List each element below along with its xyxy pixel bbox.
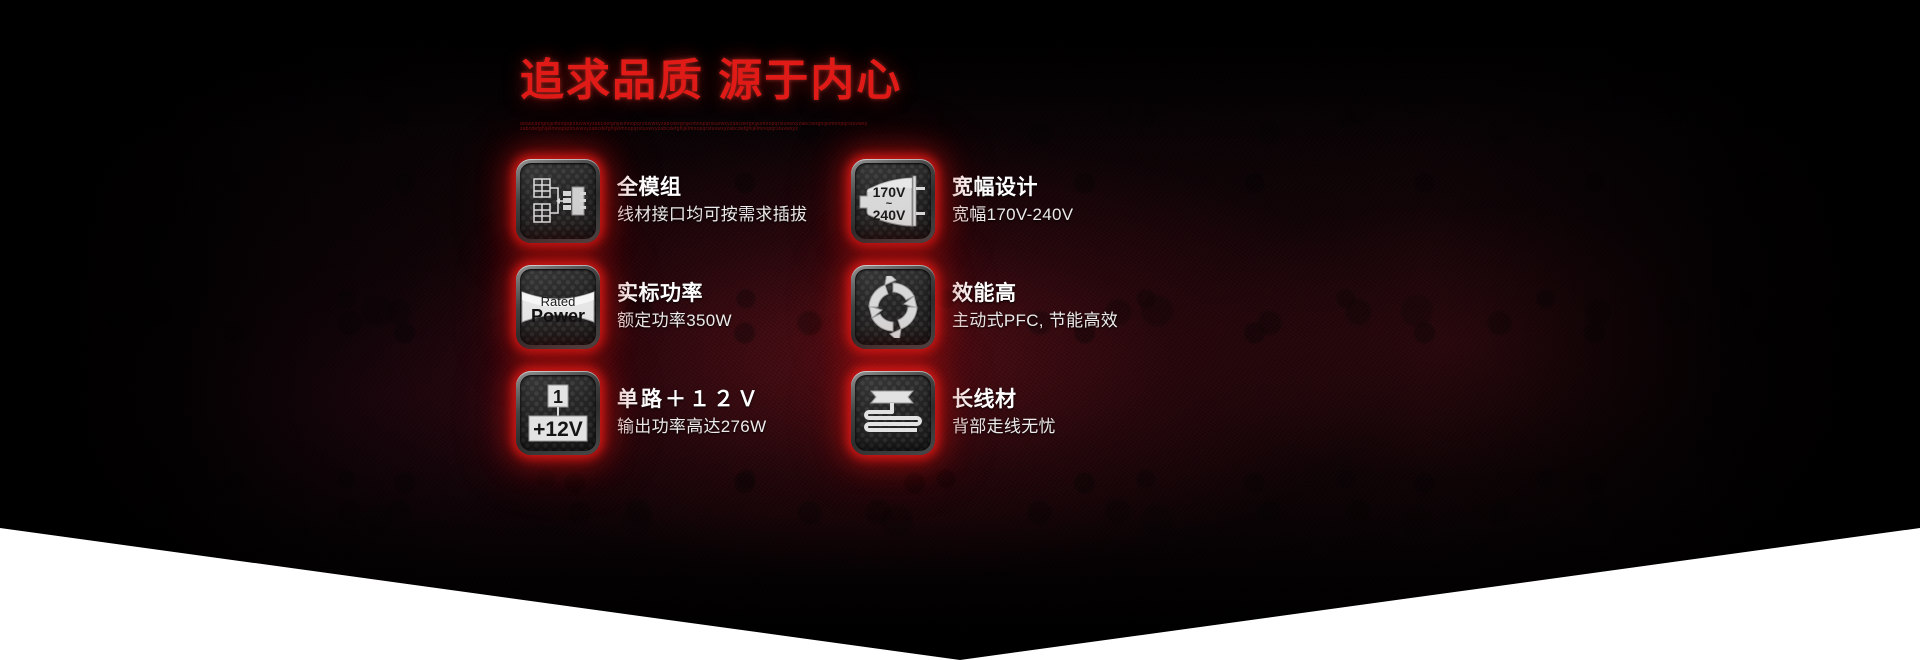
feature-desc: 线材接口均可按需求插拔 <box>617 203 807 228</box>
feature-text: 效能高 主动式PFC, 节能高效 <box>952 280 1118 334</box>
feature-title: 全模组 <box>617 174 807 201</box>
rated-power-icon: Rated Power <box>520 269 596 345</box>
feature-item-modular: 全模组 线材接口均可按需求插拔 <box>516 148 851 254</box>
feature-item-single-rail: 1 +12V 单路＋１２Ｖ 输出功率高达276W <box>516 360 851 466</box>
single-rail-12v-icon: 1 +12V <box>520 375 596 451</box>
feature-desc: 背部走线无忧 <box>952 415 1056 440</box>
modular-connector-icon <box>520 163 596 239</box>
feature-desc: 输出功率高达276W <box>617 415 766 440</box>
feature-icon-tile <box>516 159 600 243</box>
feature-item-efficiency: 效能高 主动式PFC, 节能高效 <box>851 254 1186 360</box>
feature-icon-tile: Rated Power <box>516 265 600 349</box>
feature-desc: 额定功率350W <box>617 309 732 334</box>
svg-text:240V: 240V <box>873 207 906 223</box>
wide-voltage-plug-icon: 170V ~ 240V <box>855 163 931 239</box>
feature-title: 单路＋１２Ｖ <box>617 386 766 413</box>
feature-title: 宽幅设计 <box>952 174 1073 201</box>
banner-content: 追求品质 源于内心 ababcdefghijklmnopqrstuvwxyzab… <box>0 0 1920 660</box>
feature-text: 实标功率 额定功率350W <box>617 280 732 334</box>
feature-title: 实标功率 <box>617 280 732 307</box>
banner-headline: 追求品质 源于内心 <box>520 44 902 108</box>
feature-icon-tile <box>851 371 935 455</box>
feature-text: 全模组 线材接口均可按需求插拔 <box>617 174 807 228</box>
feature-title: 长线材 <box>952 386 1056 413</box>
feature-item-wide-voltage: 170V ~ 240V 宽幅设计 宽幅170V-240V <box>851 148 1186 254</box>
feature-text: 单路＋１２Ｖ 输出功率高达276W <box>617 386 766 440</box>
feature-grid: 全模组 线材接口均可按需求插拔 170V ~ <box>516 148 1186 466</box>
feature-item-long-cable: 长线材 背部走线无忧 <box>851 360 1186 466</box>
feature-title: 效能高 <box>952 280 1118 307</box>
decorative-microtext-band: ababcdefghijklmnopqrstuvwxyzabcdefghijkl… <box>520 122 870 134</box>
headline-block: 追求品质 源于内心 ababcdefghijklmnopqrstuvwxyzab… <box>520 44 902 134</box>
feature-icon-tile: 170V ~ 240V <box>851 159 935 243</box>
svg-text:Power: Power <box>531 306 585 326</box>
svg-text:+12V: +12V <box>533 418 583 441</box>
feature-text: 宽幅设计 宽幅170V-240V <box>952 174 1073 228</box>
long-cable-icon <box>855 375 931 451</box>
product-feature-banner: 追求品质 源于内心 ababcdefghijklmnopqrstuvwxyzab… <box>0 0 1920 660</box>
feature-desc: 宽幅170V-240V <box>952 203 1073 228</box>
feature-desc: 主动式PFC, 节能高效 <box>952 309 1118 334</box>
feature-text: 长线材 背部走线无忧 <box>952 386 1056 440</box>
svg-text:1: 1 <box>553 387 563 407</box>
feature-icon-tile <box>851 265 935 349</box>
feature-item-rated-power: Rated Power 实标功率 额定功率350W <box>516 254 851 360</box>
efficiency-arrows-icon <box>855 269 931 345</box>
feature-icon-tile: 1 +12V <box>516 371 600 455</box>
